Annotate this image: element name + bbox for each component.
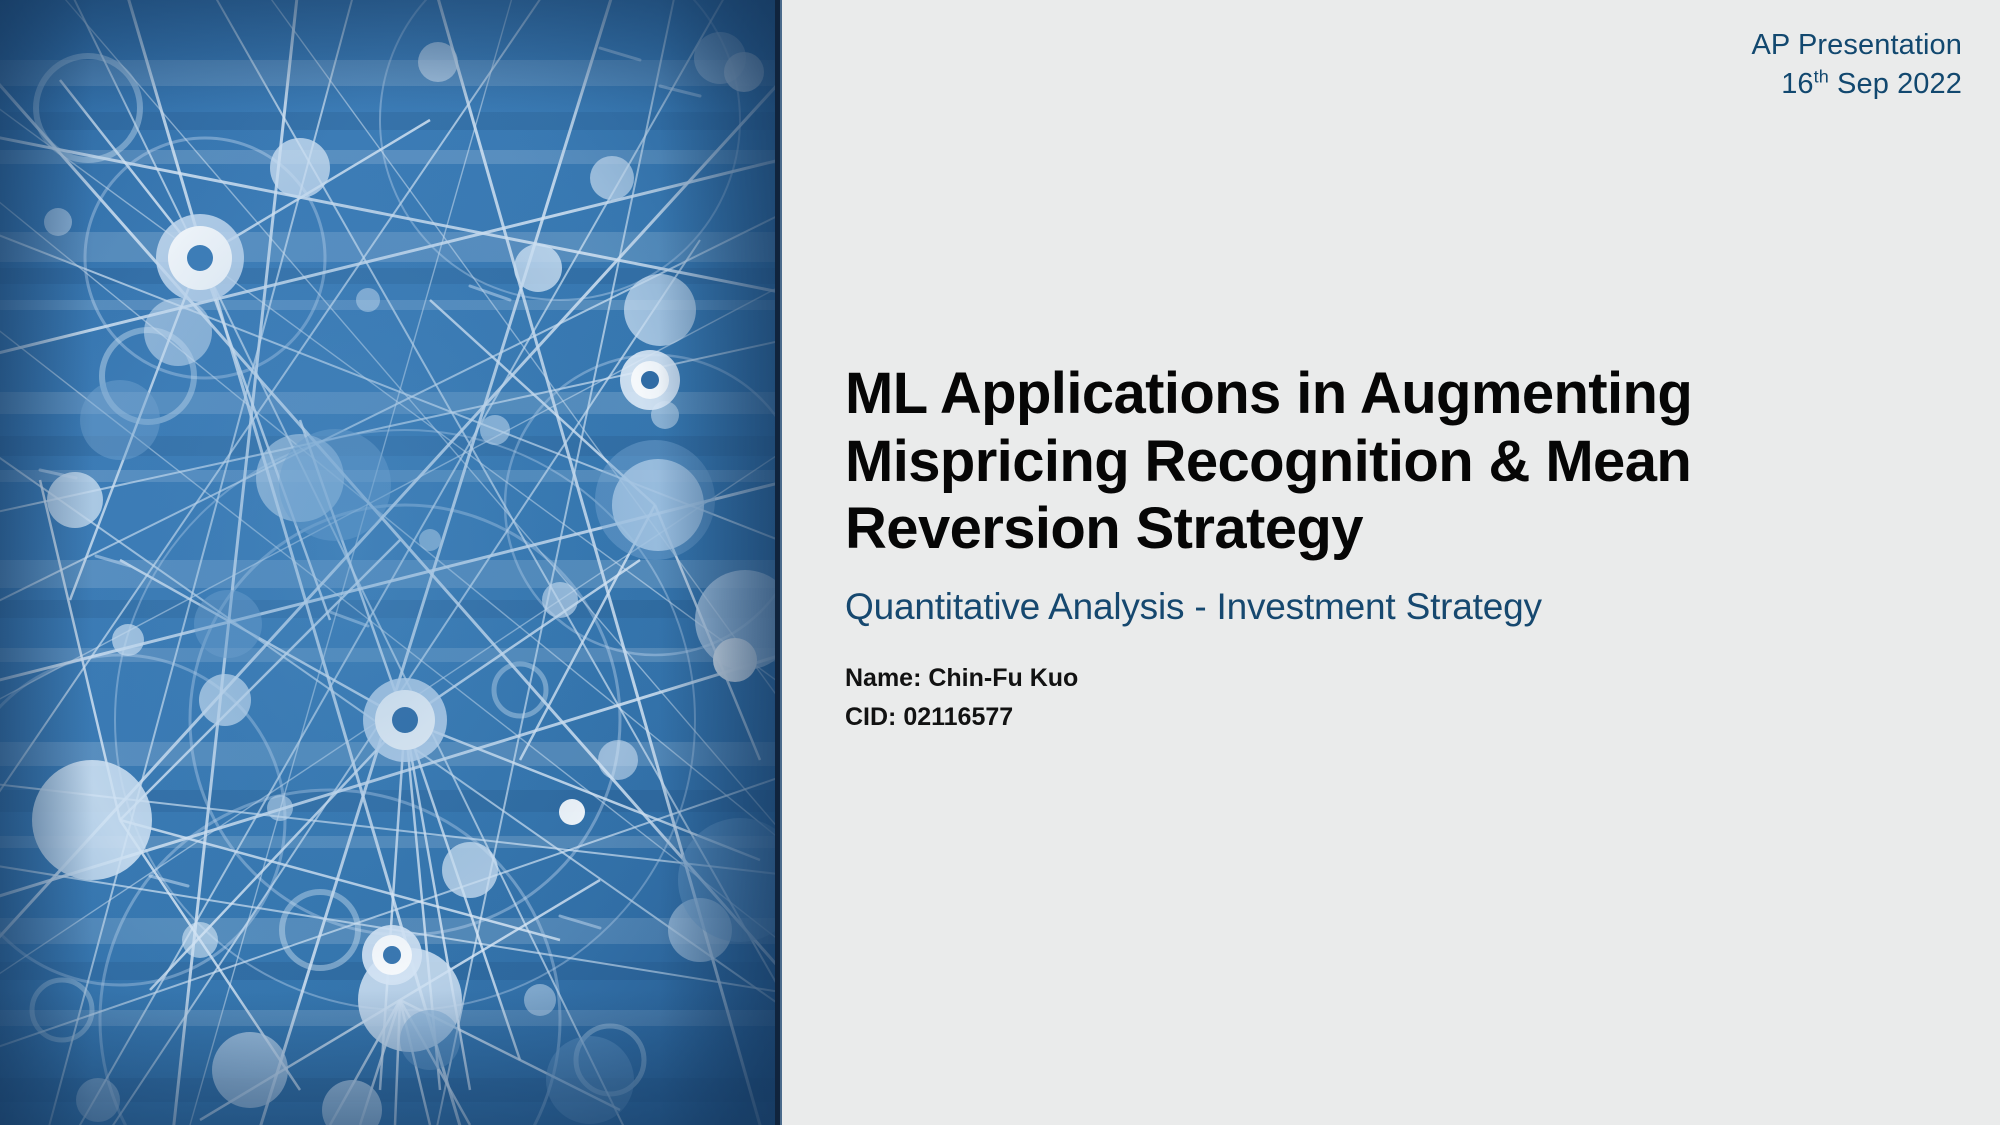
presenter-details: Name: Chin-Fu Kuo CID: 02116577 xyxy=(845,659,1975,736)
date-day: 16 xyxy=(1781,68,1813,100)
network-graphic-panel xyxy=(0,0,775,1125)
network-graph-icon xyxy=(0,0,775,1125)
presenter-name: Name: Chin-Fu Kuo xyxy=(845,659,1975,698)
title-slide: AP Presentation 16th Sep 2022 ML Applica… xyxy=(0,0,2000,1125)
presentation-date: 16th Sep 2022 xyxy=(1751,65,1962,104)
title-area: ML Applications in Augmenting Mispricing… xyxy=(845,360,1975,736)
slide-meta: AP Presentation 16th Sep 2022 xyxy=(1751,26,1962,103)
date-ordinal-suffix: th xyxy=(1814,66,1829,86)
event-name: AP Presentation xyxy=(1751,26,1962,65)
presenter-cid: CID: 02116577 xyxy=(845,698,1975,737)
date-month-year: Sep 2022 xyxy=(1829,68,1962,100)
content-column: AP Presentation 16th Sep 2022 ML Applica… xyxy=(782,0,2000,1125)
page-title: ML Applications in Augmenting Mispricing… xyxy=(845,360,1975,563)
page-subtitle: Quantitative Analysis - Investment Strat… xyxy=(845,585,1975,629)
